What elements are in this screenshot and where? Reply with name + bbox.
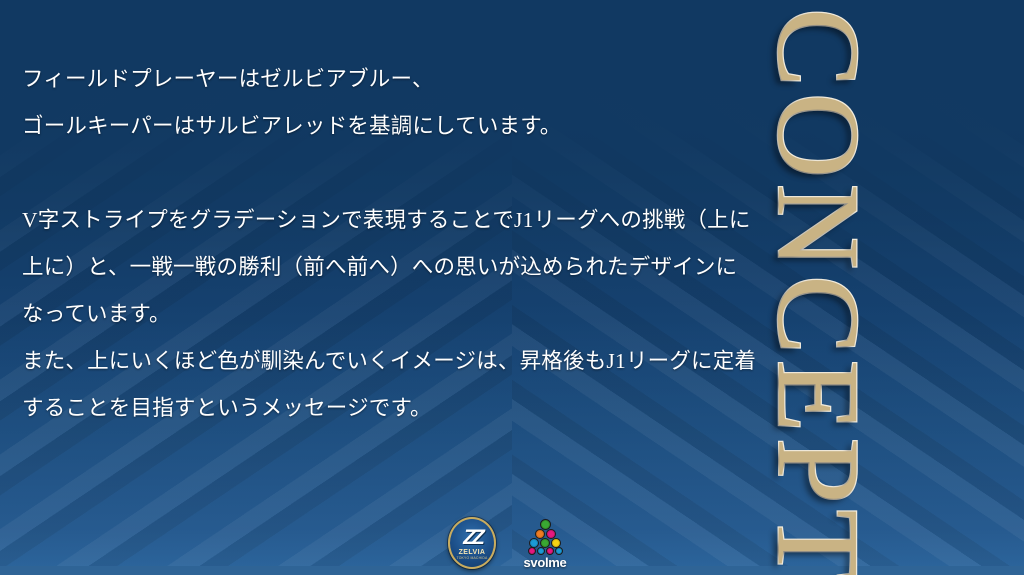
svolme-dot [546,547,554,555]
svolme-dot [540,519,551,530]
svolme-dot [546,529,556,539]
svolme-dot-row-4 [527,547,563,554]
svolme-dot-row-3 [529,538,562,547]
svolme-dot-row-2 [534,529,556,538]
zelvia-subtext: TOKYO MACHIDA [457,557,488,560]
svolme-dot-pyramid [527,519,563,554]
logo-row: ZZ ZELVIA TOKYO MACHIDA svolme [0,517,1024,569]
svolme-wordmark: svolme [523,556,566,569]
svolme-dot [529,538,539,548]
concept-slide: フィールドプレーヤーはゼルビアブルー、 ゴールキーパーはサルビアレッドを基調にし… [0,0,1024,575]
svolme-dot [555,547,563,555]
svolme-dot [540,538,550,548]
zelvia-crest-logo: ZZ ZELVIA TOKYO MACHIDA [448,517,496,569]
svolme-dot [535,529,545,539]
svolme-dot [537,547,545,555]
svolme-dot-row-1 [539,519,551,529]
zelvia-monogram: ZZ [463,527,481,548]
zelvia-crest-shape: ZZ ZELVIA TOKYO MACHIDA [448,517,496,569]
svolme-logo: svolme [514,519,576,569]
vertical-concept-title: CONCEPT [759,8,877,568]
svolme-dot [528,547,536,555]
zelvia-club-name: ZELVIA [459,549,486,556]
svolme-dot [551,538,561,548]
